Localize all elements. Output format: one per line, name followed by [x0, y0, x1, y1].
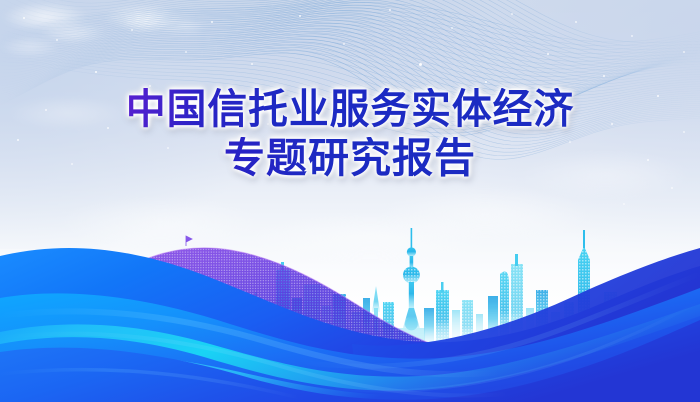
star-dot — [683, 51, 685, 53]
star-dot — [23, 17, 26, 20]
star-dot — [343, 43, 345, 45]
blue-wave-layer — [0, 212, 700, 402]
star-dot — [511, 13, 513, 15]
star-dot — [547, 53, 550, 56]
title-line-1: 中国信托业服务实体经济 — [11, 88, 690, 131]
report-cover-poster: 中国信托业服务实体经济 专题研究报告 — [0, 0, 700, 402]
star-dot — [451, 27, 453, 29]
star-dot — [95, 71, 98, 74]
star-dot — [299, 15, 302, 18]
poster-title: 中国信托业服务实体经济 专题研究报告 — [0, 88, 700, 181]
star-dot — [603, 75, 606, 78]
blue-wave-svg — [0, 212, 700, 402]
star-dot — [485, 81, 488, 84]
star-dot — [419, 63, 422, 66]
star-dot — [575, 21, 577, 23]
star-dot — [389, 9, 391, 11]
star-dot — [251, 63, 253, 65]
star-dot — [631, 35, 633, 37]
star-dot — [185, 51, 187, 53]
star-dot — [671, 187, 673, 189]
title-line-2: 专题研究报告 — [0, 137, 700, 180]
star-dot — [131, 29, 133, 31]
star-dot — [56, 39, 58, 41]
star-dot — [211, 21, 214, 24]
